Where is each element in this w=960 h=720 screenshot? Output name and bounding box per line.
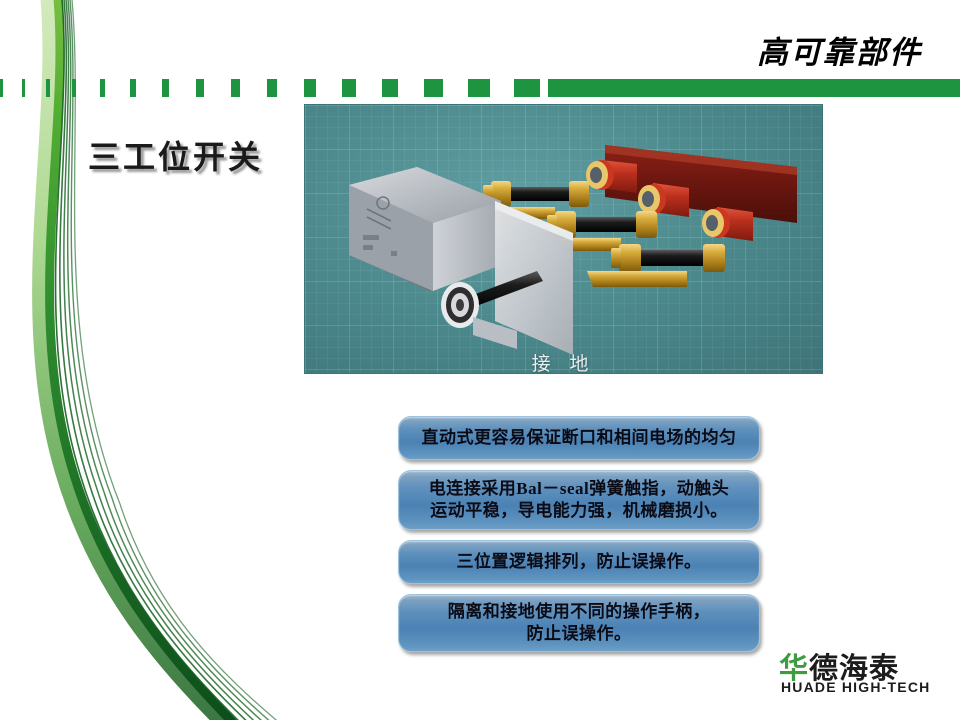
product-photo: 接 地 (305, 105, 822, 373)
bullet-box-4[interactable]: 隔离和接地使用不同的操作手柄， 防止误操作。 (398, 594, 760, 652)
company-logo: 华德海泰 HUADE HIGH-TECH (779, 645, 955, 697)
green-swoosh-decoration (0, 0, 320, 720)
red-bushing-1 (586, 160, 637, 193)
logo-english-name: HUADE HIGH-TECH (781, 679, 930, 695)
red-bushing-3 (702, 207, 753, 241)
metal-housing (349, 167, 501, 291)
bullet-box-1[interactable]: 直动式更容易保证断口和相间电场的均匀 (398, 416, 760, 460)
switch-mechanism-illustration (305, 105, 822, 373)
bullet-text-4: 隔离和接地使用不同的操作手柄， 防止误操作。 (438, 601, 721, 646)
bullet-text-2: 电连接采用Bal－seal弹簧触指，动触头 运动平稳，导电能力强，机械磨损小。 (419, 478, 739, 523)
slide-canvas: 高可靠部件 三工位开关 (0, 0, 960, 720)
bullet-box-3[interactable]: 三位置逻辑排列，防止误操作。 (398, 540, 760, 584)
bullet-text-3: 三位置逻辑排列，防止误操作。 (447, 551, 712, 573)
page-title: 高可靠部件 (757, 27, 922, 72)
photo-caption: 接 地 (305, 349, 822, 373)
bullet-box-2[interactable]: 电连接采用Bal－seal弹簧触指，动触头 运动平稳，导电能力强，机械磨损小。 (398, 470, 760, 530)
header-dashed-bar (0, 79, 960, 97)
bullet-text-1: 直动式更容易保证断口和相间电场的均匀 (412, 427, 747, 449)
slide-subtitle: 三工位开关 (88, 132, 263, 178)
